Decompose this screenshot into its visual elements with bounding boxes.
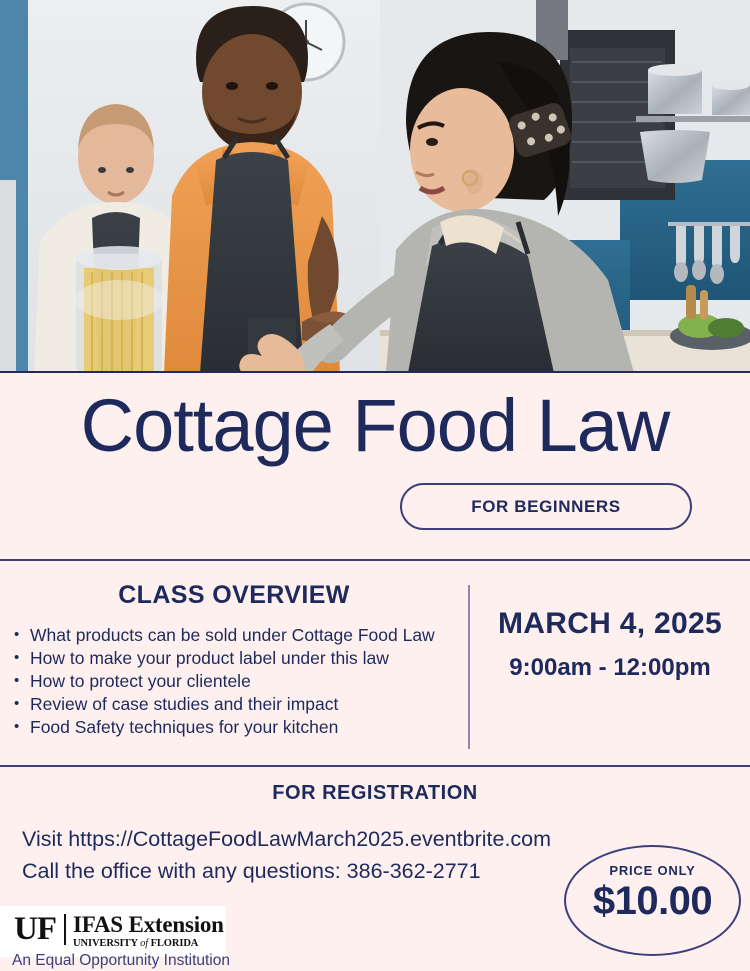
event-datetime: MARCH 4, 2025 9:00am - 12:00pm — [470, 561, 750, 682]
logo-univ-post: FLORIDA — [148, 938, 198, 949]
logo-inner: UF IFAS Extension UNIVERSITY of FLORIDA — [14, 913, 224, 950]
logo-text: IFAS Extension UNIVERSITY of FLORIDA — [73, 913, 224, 950]
list-item: How to make your product label under thi… — [14, 647, 462, 670]
registration-heading: FOR REGISTRATION — [0, 767, 750, 805]
page-title: Cottage Food Law — [0, 389, 750, 463]
middle-section: CLASS OVERVIEW What products can be sold… — [0, 561, 750, 765]
list-item: Review of case studies and their impact — [14, 693, 462, 716]
list-item: What products can be sold under Cottage … — [14, 624, 462, 647]
logo-univ-pre: UNIVERSITY — [73, 938, 140, 949]
uf-monogram: UF — [14, 913, 56, 946]
list-item: Food Safety techniques for your kitchen — [14, 716, 462, 739]
title-block: Cottage Food Law FOR BEGINNERS — [0, 373, 750, 559]
event-time: 9:00am - 12:00pm — [470, 641, 750, 682]
price-amount: $10.00 — [566, 878, 739, 922]
logo-univ-of: of — [140, 938, 148, 949]
kitchen-photo-illustration — [0, 0, 750, 373]
uf-ifas-logo: UF IFAS Extension UNIVERSITY of FLORIDA — [0, 906, 226, 957]
logo-university-line: UNIVERSITY of FLORIDA — [73, 936, 224, 950]
class-overview: CLASS OVERVIEW What products can be sold… — [0, 561, 468, 739]
class-overview-list: What products can be sold under Cottage … — [0, 624, 468, 739]
logo-divider-icon — [64, 914, 66, 945]
flyer-page: Cottage Food Law FOR BEGINNERS CLASS OVE… — [0, 0, 750, 971]
event-date: MARCH 4, 2025 — [470, 561, 750, 641]
equal-opportunity-notice: An Equal Opportunity Institution — [12, 952, 230, 970]
class-overview-heading: CLASS OVERVIEW — [0, 561, 468, 610]
subtitle-pill-label: FOR BEGINNERS — [471, 497, 620, 517]
list-item: How to protect your clientele — [14, 670, 462, 693]
logo-extension-name: IFAS Extension — [73, 913, 224, 936]
price-badge: PRICE ONLY $10.00 — [564, 845, 741, 956]
kitchen-photo — [0, 0, 750, 373]
price-label: PRICE ONLY — [566, 847, 739, 878]
subtitle-pill: FOR BEGINNERS — [400, 483, 692, 530]
